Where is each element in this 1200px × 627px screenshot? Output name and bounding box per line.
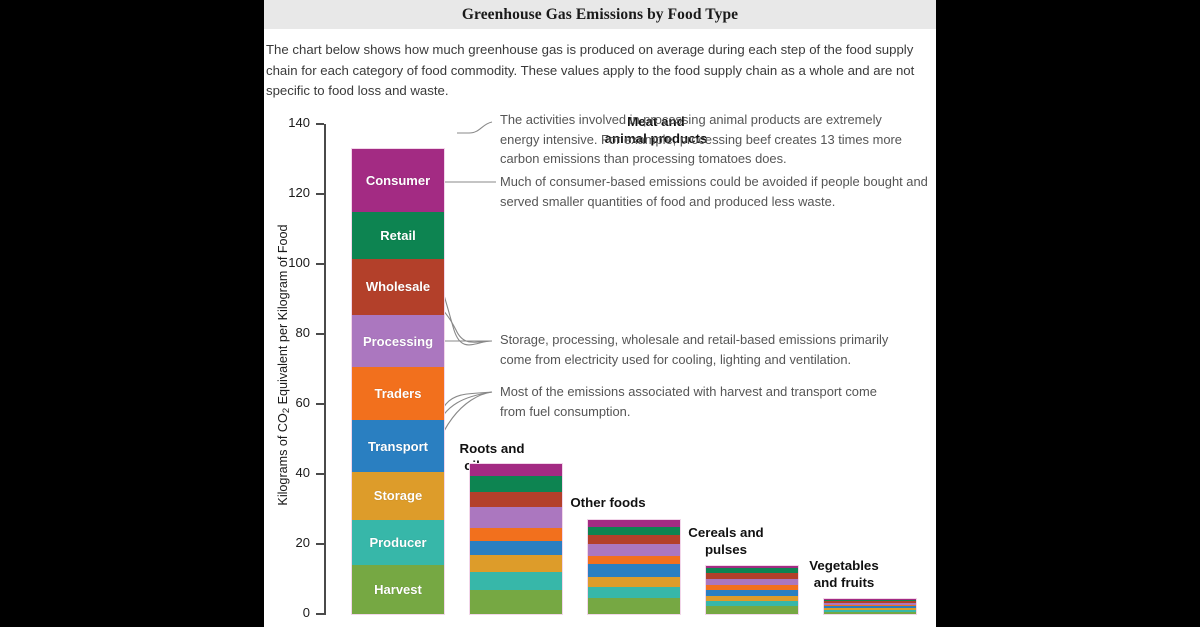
segment-label-traders: Traders: [352, 367, 444, 420]
bar-segment-producer[interactable]: [588, 587, 680, 598]
y-tick-label-20: 20: [266, 535, 310, 550]
y-tick-label-40: 40: [266, 465, 310, 480]
bar-segment-retail[interactable]: [470, 476, 562, 492]
y-tick-60: [316, 403, 324, 405]
bar-segment-storage[interactable]: Storage: [352, 472, 444, 519]
segment-label-processing: Processing: [352, 315, 444, 368]
annotation-processing-note: The activities involved in processing an…: [500, 110, 920, 169]
bar-title-cereals-line2: pulses: [648, 542, 804, 559]
bar-segment-harvest[interactable]: Harvest: [352, 565, 444, 614]
annotation-fuel-note: Most of the emissions associated with ha…: [500, 382, 900, 421]
bar-title-roots-line1: Roots and: [414, 441, 570, 458]
bar-segment-consumer[interactable]: [470, 464, 562, 476]
segment-label-wholesale: Wholesale: [352, 259, 444, 315]
bar-segment-harvest[interactable]: [588, 598, 680, 614]
y-tick-140: [316, 123, 324, 125]
y-tick-20: [316, 543, 324, 545]
bar-segment-harvest[interactable]: [470, 590, 562, 615]
bar-segment-harvest[interactable]: [824, 612, 916, 614]
bar-title-cereals: Cereals and pulses: [648, 525, 804, 558]
bar-segment-transport[interactable]: [588, 564, 680, 577]
bar-segment-traders[interactable]: [470, 528, 562, 540]
segment-label-harvest: Harvest: [352, 565, 444, 614]
bar-segment-transport[interactable]: [470, 541, 562, 555]
y-tick-120: [316, 193, 324, 195]
bar-roots-and-oil-crops[interactable]: [470, 464, 562, 615]
bar-title-vegetables-line2: and fruits: [766, 575, 922, 592]
y-axis-line: [324, 124, 326, 615]
y-tick-label-140: 140: [266, 115, 310, 130]
bar-meat-and-animal-products[interactable]: ConsumerRetailWholesaleProcessingTraders…: [352, 149, 444, 615]
bar-title-vegetables: Vegetables and fruits: [766, 558, 922, 591]
segment-label-consumer: Consumer: [352, 149, 444, 212]
bar-segment-consumer[interactable]: Consumer: [352, 149, 444, 212]
y-tick-label-100: 100: [266, 255, 310, 270]
y-tick-label-120: 120: [266, 185, 310, 200]
annotation-electricity-note: Storage, processing, wholesale and retai…: [500, 330, 920, 369]
annotation-consumer-note: Much of consumer-based emissions could b…: [500, 172, 936, 211]
bar-segment-processing[interactable]: Processing: [352, 315, 444, 368]
y-tick-80: [316, 333, 324, 335]
bar-segment-producer[interactable]: [470, 572, 562, 590]
bar-title-vegetables-line1: Vegetables: [766, 558, 922, 575]
bar-segment-producer[interactable]: Producer: [352, 520, 444, 566]
bar-segment-wholesale[interactable]: Wholesale: [352, 259, 444, 315]
plot-area: Kilograms of CO2 Equivalent per Kilogram…: [264, 0, 936, 627]
bar-segment-retail[interactable]: Retail: [352, 212, 444, 259]
y-tick-label-0: 0: [266, 605, 310, 620]
y-tick-40: [316, 473, 324, 475]
y-tick-label-80: 80: [266, 325, 310, 340]
bar-segment-storage[interactable]: [588, 577, 680, 588]
y-tick-label-60: 60: [266, 395, 310, 410]
chart-canvas: Greenhouse Gas Emissions by Food Type Th…: [264, 0, 936, 627]
bar-title-cereals-line1: Cereals and: [648, 525, 804, 542]
bar-segment-harvest[interactable]: [706, 606, 798, 614]
y-tick-100: [316, 263, 324, 265]
bar-segment-storage[interactable]: [470, 555, 562, 573]
bar-title-other: Other foods: [530, 495, 686, 512]
y-tick-0: [316, 613, 324, 615]
segment-label-retail: Retail: [352, 212, 444, 259]
bar-title-other-line1: Other foods: [530, 495, 686, 512]
segment-label-producer: Producer: [352, 520, 444, 566]
segment-label-storage: Storage: [352, 472, 444, 519]
bar-vegetables-and-fruits[interactable]: [824, 599, 916, 614]
bar-segment-traders[interactable]: Traders: [352, 367, 444, 420]
